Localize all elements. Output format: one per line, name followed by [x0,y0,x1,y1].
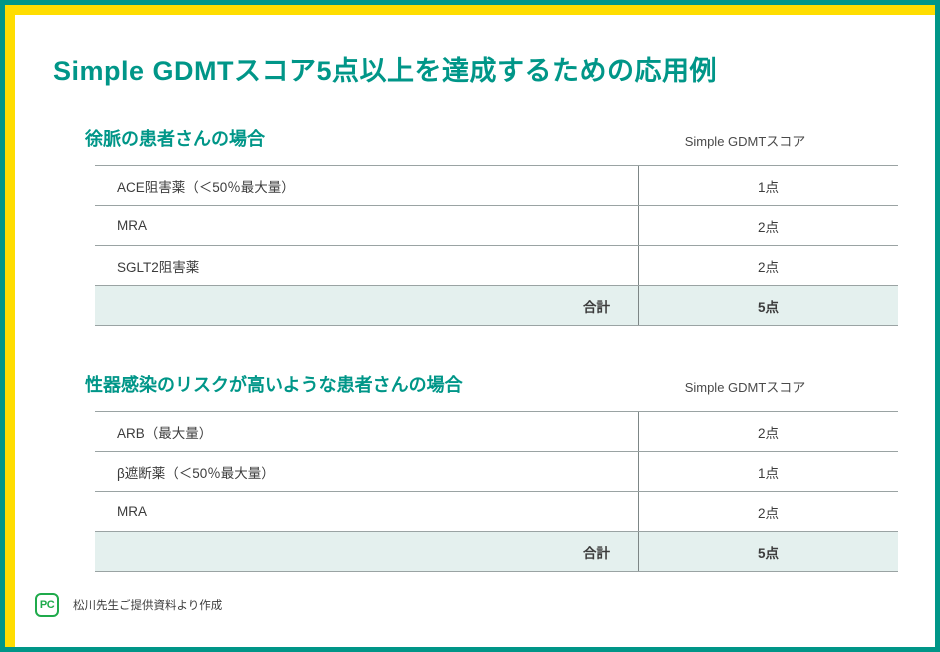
drug-name-cell: ARB（最大量） [95,412,639,452]
footer-caption: 松川先生ご提供資料より作成 [73,597,222,613]
footer: PC 松川先生ご提供資料より作成 [35,593,222,617]
slide-inner-canvas: Simple GDMTスコア5点以上を達成するための応用例 徐脈の患者さんの場合… [15,15,935,647]
score-cell: 2点 [639,206,899,246]
score-table-2: ARB（最大量） 2点 β遮断薬（＜50％最大量） 1点 MRA 2点 合計 [95,411,898,572]
score-cell: 1点 [639,452,899,492]
total-label-cell: 合計 [95,286,639,326]
slide-content: Simple GDMTスコア5点以上を達成するための応用例 徐脈の患者さんの場合… [15,15,935,647]
total-row: 合計 5点 [95,532,898,572]
drug-name-cell: ACE阻害薬（＜50％最大量） [95,166,639,206]
section-heading-2: 性器感染のリスクが高いような患者さんの場合 [85,371,463,397]
score-cell: 1点 [639,166,899,206]
table-row: MRA 2点 [95,492,898,532]
section-heading-1: 徐脈の患者さんの場合 [85,125,265,151]
drug-name-cell: MRA [95,206,639,246]
total-score-cell: 5点 [639,286,899,326]
column-header-score-2: Simple GDMTスコア [615,377,875,396]
pc-badge-icon: PC [35,593,59,617]
score-cell: 2点 [639,492,899,532]
score-table-1: ACE阻害薬（＜50％最大量） 1点 MRA 2点 SGLT2阻害薬 2点 [95,165,898,326]
table-row: ACE阻害薬（＜50％最大量） 1点 [95,166,898,206]
page-title: Simple GDMTスコア5点以上を達成するための応用例 [53,49,717,88]
total-label-cell: 合計 [95,532,639,572]
score-cell: 2点 [639,412,899,452]
table-row: β遮断薬（＜50％最大量） 1点 [95,452,898,492]
score-cell: 2点 [639,246,899,286]
total-score-cell: 5点 [639,532,899,572]
table-row: MRA 2点 [95,206,898,246]
drug-name-cell: MRA [95,492,639,532]
slide-decorative-frame: Simple GDMTスコア5点以上を達成するための応用例 徐脈の患者さんの場合… [0,0,940,652]
drug-name-cell: SGLT2阻害薬 [95,246,639,286]
table-row: ARB（最大量） 2点 [95,412,898,452]
table-row: SGLT2阻害薬 2点 [95,246,898,286]
drug-name-cell: β遮断薬（＜50％最大量） [95,452,639,492]
column-header-score-1: Simple GDMTスコア [615,131,875,150]
total-row: 合計 5点 [95,286,898,326]
